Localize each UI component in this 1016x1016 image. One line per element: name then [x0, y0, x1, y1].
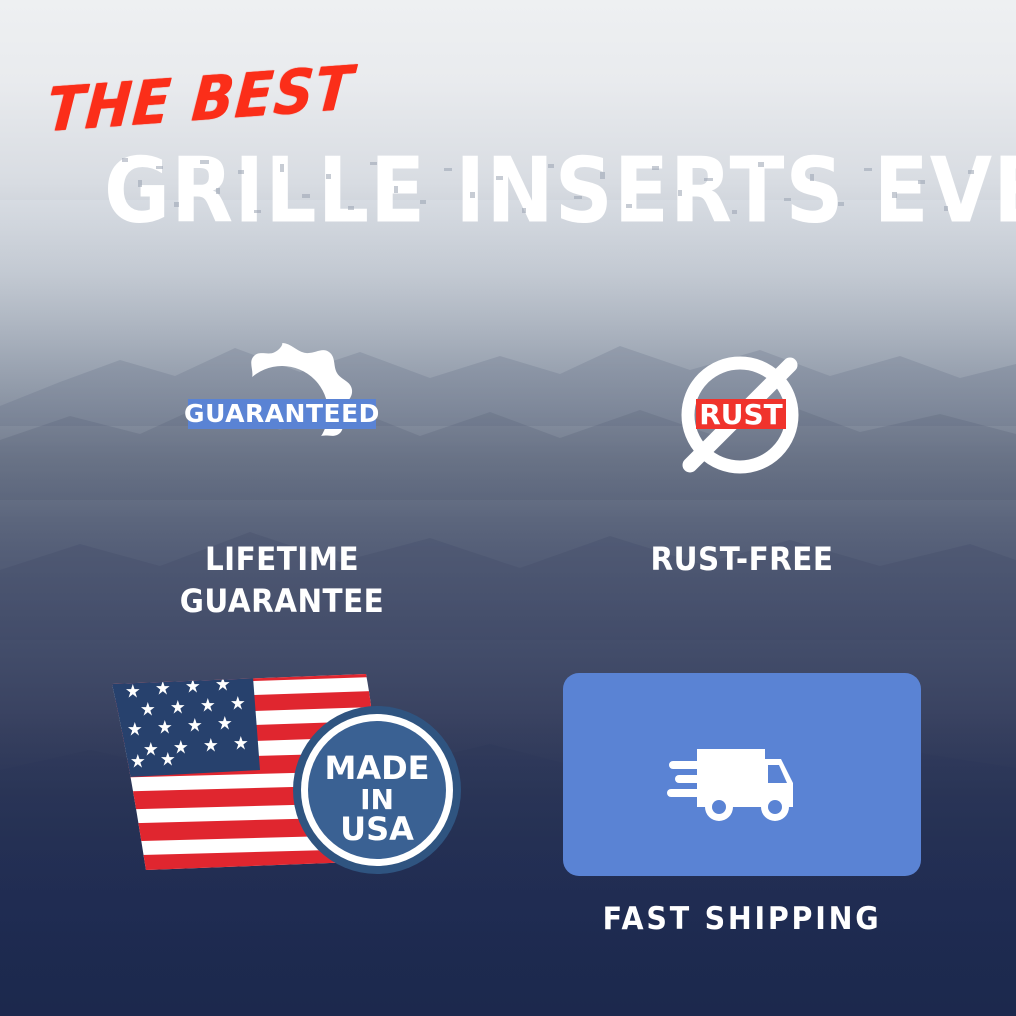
caption-line: RUST-FREE [577, 538, 906, 580]
caption-line: FAST SHIPPING [568, 898, 916, 940]
made-in-usa-seal-icon: MADE IN USA [292, 705, 462, 875]
promo-graphic: THE BEST GRILLE INSERTS EVER! [0, 0, 1016, 1016]
caption-line: GUARANTEE [118, 580, 446, 622]
delivery-truck-icon [563, 673, 921, 876]
guarantee-badge-label: GUARANTEED [184, 399, 380, 428]
seal-line-usa: USA [340, 810, 414, 848]
caption-rust-free: RUST-FREE [577, 538, 906, 580]
caption-line: LIFETIME [118, 538, 446, 580]
seal-line-made: MADE [324, 749, 429, 787]
caption-lifetime-guarantee: LIFETIME GUARANTEE [118, 538, 446, 622]
no-rust-label: RUST [699, 398, 783, 431]
made-in-usa-badge[interactable]: MADE IN USA [104, 670, 464, 880]
page-title: GRILLE INSERTS EVER! [104, 140, 1016, 241]
caption-fast-shipping: FAST SHIPPING [568, 898, 916, 940]
no-rust-icon: RUST [563, 310, 921, 513]
guarantee-badge-icon: GUARANTEED [104, 310, 460, 513]
